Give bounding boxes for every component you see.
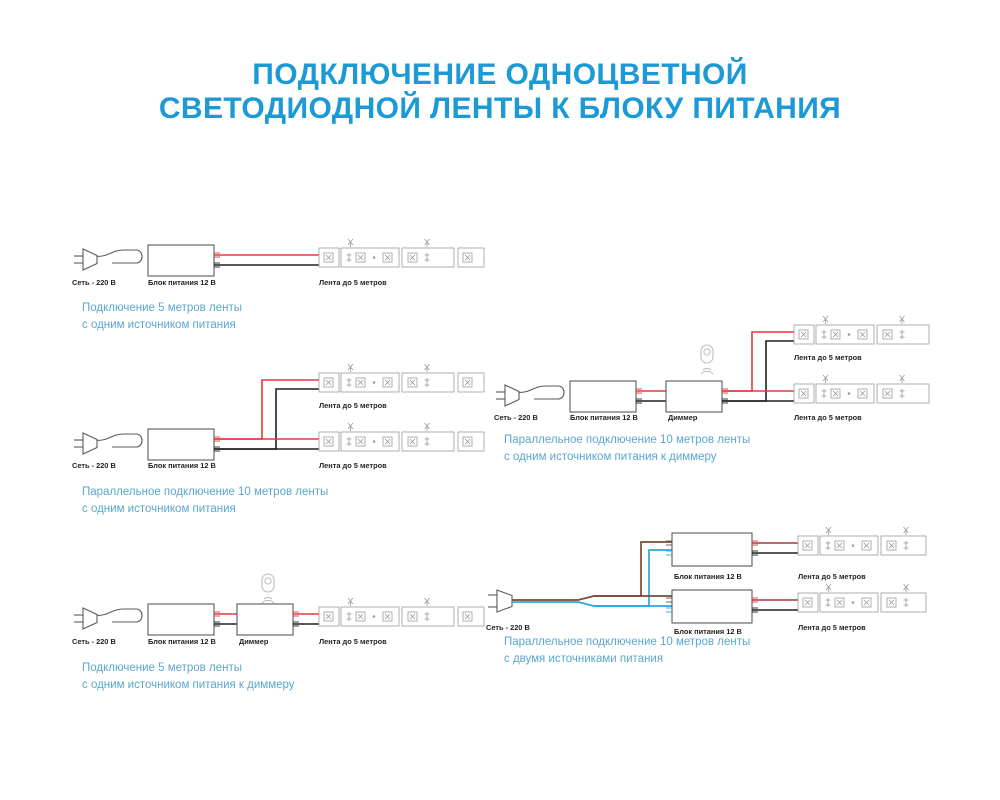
psu-to-dimmer-wires [214, 614, 237, 624]
mains-plug-icon [74, 249, 142, 270]
caption-two-strips-two-psu-parallel: Параллельное подключение 10 метров ленты… [504, 634, 750, 668]
psu-to-dimmer-wires [636, 391, 666, 401]
cut-mark-icon [425, 423, 430, 431]
infographic-page: Подключение одноцветной светодиодной лен… [0, 0, 1000, 800]
dimmer-box [237, 604, 299, 635]
dc-wires [752, 543, 798, 553]
strip-label: Лента до 5 метров [319, 401, 387, 410]
caption-two-strips-one-psu-parallel: Параллельное подключение 10 метров ленты… [82, 484, 328, 518]
cut-mark-icon [348, 598, 353, 606]
psu-label: Блок питания 12 В [148, 461, 216, 470]
dc-wires-parallel [214, 380, 319, 449]
strip-label: Лента до 5 метров [319, 461, 387, 470]
mains-label: Сеть - 220 В [72, 461, 116, 470]
power-supply-box [666, 533, 758, 566]
dc-wires-parallel [722, 332, 794, 401]
led-strip [319, 364, 484, 392]
mains-plug-icon [74, 433, 142, 454]
led-strip [798, 584, 926, 612]
led-strip [794, 375, 929, 403]
led-strip [319, 239, 484, 267]
mains-plug-icon [496, 385, 564, 406]
diagram-two-strips-one-psu-parallel: Лента до 5 метров [72, 366, 492, 471]
strip-label: Лента до 5 метров [794, 413, 862, 422]
page-title: Подключение одноцветной светодиодной лен… [0, 58, 1000, 126]
cut-mark-icon [425, 598, 430, 606]
dimmer-to-strip-wires [293, 614, 319, 624]
dimmer-label: Диммер [668, 413, 698, 422]
cut-mark-icon [348, 364, 353, 372]
caption-single-strip-one-psu: Подключение 5 метров ленты с одним источ… [82, 300, 242, 334]
caption-line-1: Параллельное подключение 10 метров ленты [82, 484, 328, 501]
caption-line-1: Параллельное подключение 10 метров ленты [504, 634, 750, 651]
cut-mark-icon [904, 584, 909, 592]
cut-mark-icon [900, 316, 905, 324]
remote-control-icon [262, 574, 274, 603]
mains-plug-icon [488, 590, 512, 612]
dc-wires [214, 255, 319, 265]
page-title-line-2: светодиодной ленты к блоку питания [0, 92, 1000, 126]
mains-label: Сеть - 220 В [494, 413, 538, 422]
diagram-two-strips-two-psu-parallel: Блок питания 12 В Лента до 5 метров [486, 520, 926, 635]
cut-mark-icon [425, 239, 430, 247]
mains-label: Сеть - 220 В [486, 623, 530, 632]
psu-label: Блок питания 12 В [148, 637, 216, 646]
power-supply-box [570, 381, 642, 412]
mains-label: Сеть - 220 В [72, 637, 116, 646]
remote-control-icon [701, 345, 713, 374]
led-strip [319, 423, 484, 451]
dc-wires [752, 600, 798, 610]
power-supply-box [148, 245, 220, 276]
page-title-line-1: Подключение одноцветной [0, 58, 1000, 92]
psu-label: Блок питания 12 В [148, 278, 216, 287]
psu-label: Блок питания 12 В [570, 413, 638, 422]
diagram-single-strip-one-psu: Сеть - 220 В Блок питания 12 В Лента до … [72, 236, 492, 288]
caption-two-strips-one-psu-dimmer-parallel: Параллельное подключение 10 метров ленты… [504, 432, 750, 466]
strip-label: Лента до 5 метров [794, 353, 862, 362]
cut-mark-icon [823, 316, 828, 324]
cut-mark-icon [348, 423, 353, 431]
mains-label: Сеть - 220 В [72, 278, 116, 287]
cut-mark-icon [425, 364, 430, 372]
strip-label: Лента до 5 метров [798, 623, 866, 632]
led-strip [319, 598, 484, 626]
cut-mark-icon [826, 527, 831, 535]
diagram-single-strip-one-psu-dimmer: Сеть - 220 В Блок питания 12 В Диммер Ле… [72, 572, 492, 647]
power-supply-box [148, 604, 220, 635]
strip-label: Лента до 5 метров [319, 637, 387, 646]
cut-mark-icon [904, 527, 909, 535]
caption-line-1: Параллельное подключение 10 метров ленты [504, 432, 750, 449]
psu-label: Блок питания 12 В [674, 572, 742, 581]
cut-mark-icon [823, 375, 828, 383]
diagram-two-strips-one-psu-dimmer-parallel: Лента до 5 метров [494, 318, 924, 423]
cut-mark-icon [348, 239, 353, 247]
mains-plug-icon [74, 608, 142, 629]
caption-line-2: с одним источником питания к диммеру [82, 677, 295, 694]
strip-label: Лента до 5 метров [798, 572, 866, 581]
dimmer-label: Диммер [239, 637, 269, 646]
caption-line-1: Подключение 5 метров ленты [82, 660, 295, 677]
cut-mark-icon [826, 584, 831, 592]
led-strip [798, 527, 926, 555]
caption-line-2: с одним источником питания к диммеру [504, 449, 750, 466]
caption-line-2: с одним источником питания [82, 317, 242, 334]
power-supply-box [148, 429, 220, 460]
caption-line-1: Подключение 5 метров ленты [82, 300, 242, 317]
power-supply-box [666, 590, 758, 623]
ac-wires [512, 542, 672, 606]
cut-mark-icon [900, 375, 905, 383]
dimmer-box [666, 381, 728, 412]
caption-single-strip-one-psu-dimmer: Подключение 5 метров ленты с одним источ… [82, 660, 295, 694]
caption-line-2: с одним источником питания [82, 501, 328, 518]
caption-line-2: с двумя источниками питания [504, 651, 750, 668]
led-strip [794, 316, 929, 344]
strip-label: Лента до 5 метров [319, 278, 387, 287]
